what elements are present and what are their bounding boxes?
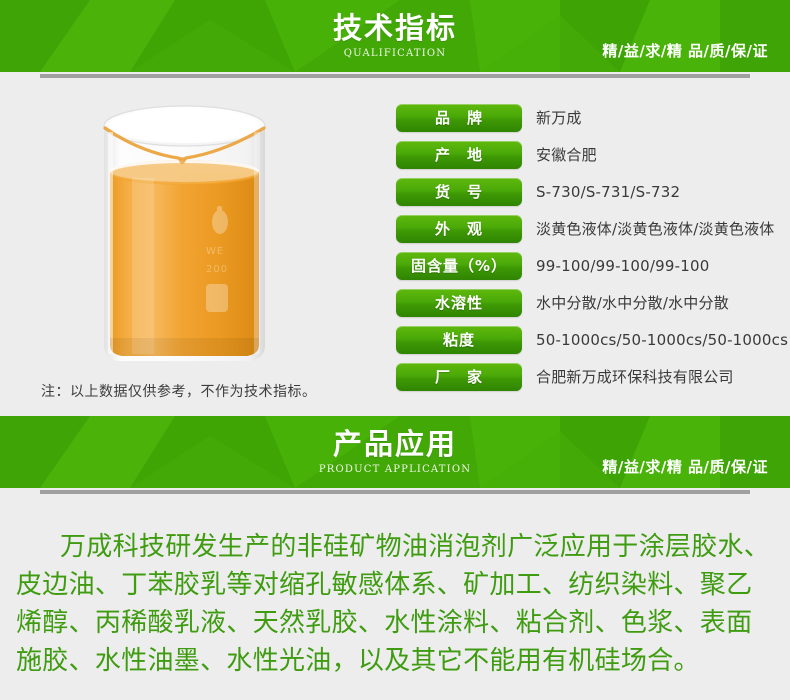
spec-label-brand: 品 牌 — [396, 104, 522, 132]
banner-title-en: PRODUCT APPLICATION — [319, 463, 471, 477]
banner-title-en: QUALIFICATION — [344, 47, 447, 61]
application-banner: 产品应用 PRODUCT APPLICATION 精/益/求/精 品/质/保/证 — [0, 416, 790, 488]
specification-note: 注：以上数据仅供参考，不作为技术指标。 — [41, 381, 317, 401]
spec-label-appearance: 外 观 — [396, 215, 522, 243]
table-row: 外 观 淡黄色液体/淡黄色液体/淡黄色液体 — [396, 213, 776, 244]
qualification-banner: 技术指标 QUALIFICATION 精/益/求/精 品/质/保/证 — [0, 0, 790, 72]
svg-text:200: 200 — [206, 264, 228, 275]
banner-curve-shadow-bottom — [0, 488, 790, 510]
spec-label-manufacturer: 厂 家 — [396, 363, 522, 391]
spec-label-water-solubility: 水溶性 — [396, 289, 522, 317]
spec-value-item-number: S-730/S-731/S-732 — [536, 183, 680, 201]
application-section: 万成科技研发生产的非硅矿物油消泡剂广泛应用于涂层胶水、皮边油、丁苯胶乳等对缩孔敏… — [0, 510, 790, 680]
spec-value-origin: 安徽合肥 — [536, 144, 597, 165]
banner-title-cn: 产品应用 — [333, 427, 457, 461]
spec-value-brand: 新万成 — [536, 107, 582, 128]
spec-value-water-solubility: 水中分散/水中分散/水中分散 — [536, 292, 729, 313]
spec-value-appearance: 淡黄色液体/淡黄色液体/淡黄色液体 — [536, 218, 775, 239]
svg-text:WE: WE — [206, 246, 224, 257]
table-row: 粘度 50-1000cs/50-1000cs/50-1000cs — [396, 324, 776, 355]
table-row: 产 地 安徽合肥 — [396, 139, 776, 170]
table-row: 品 牌 新万成 — [396, 102, 776, 133]
table-row: 固含量（%） 99-100/99-100/99-100 — [396, 250, 776, 281]
product-beaker-image: WE 200 — [92, 102, 277, 372]
spec-value-manufacturer: 合肥新万成环保科技有限公司 — [536, 366, 734, 387]
banner-slogan: 精/益/求/精 品/质/保/证 — [602, 456, 768, 477]
specification-section: WE 200 注：以上数据仅供参考，不作为技术指标。 品 牌 新万成 产 地 安… — [0, 94, 790, 416]
table-row: 水溶性 水中分散/水中分散/水中分散 — [396, 287, 776, 318]
banner-title-cn: 技术指标 — [333, 11, 457, 45]
application-paragraph: 万成科技研发生产的非硅矿物油消泡剂广泛应用于涂层胶水、皮边油、丁苯胶乳等对缩孔敏… — [0, 528, 790, 680]
banner-title-group: 技术指标 QUALIFICATION — [0, 0, 790, 72]
table-row: 厂 家 合肥新万成环保科技有限公司 — [396, 361, 776, 392]
banner-title-group: 产品应用 PRODUCT APPLICATION — [0, 416, 790, 488]
spec-label-viscosity: 粘度 — [396, 326, 522, 354]
spec-value-solid-content: 99-100/99-100/99-100 — [536, 257, 710, 275]
specification-table: 品 牌 新万成 产 地 安徽合肥 货 号 S-730/S-731/S-732 外… — [396, 102, 776, 398]
spec-label-solid-content: 固含量（%） — [396, 252, 522, 280]
spec-label-origin: 产 地 — [396, 141, 522, 169]
banner-slogan: 精/益/求/精 品/质/保/证 — [602, 40, 768, 61]
table-row: 货 号 S-730/S-731/S-732 — [396, 176, 776, 207]
spec-label-item-number: 货 号 — [396, 178, 522, 206]
spec-value-viscosity: 50-1000cs/50-1000cs/50-1000cs — [536, 331, 788, 349]
banner-curve-shadow-top — [0, 72, 790, 94]
